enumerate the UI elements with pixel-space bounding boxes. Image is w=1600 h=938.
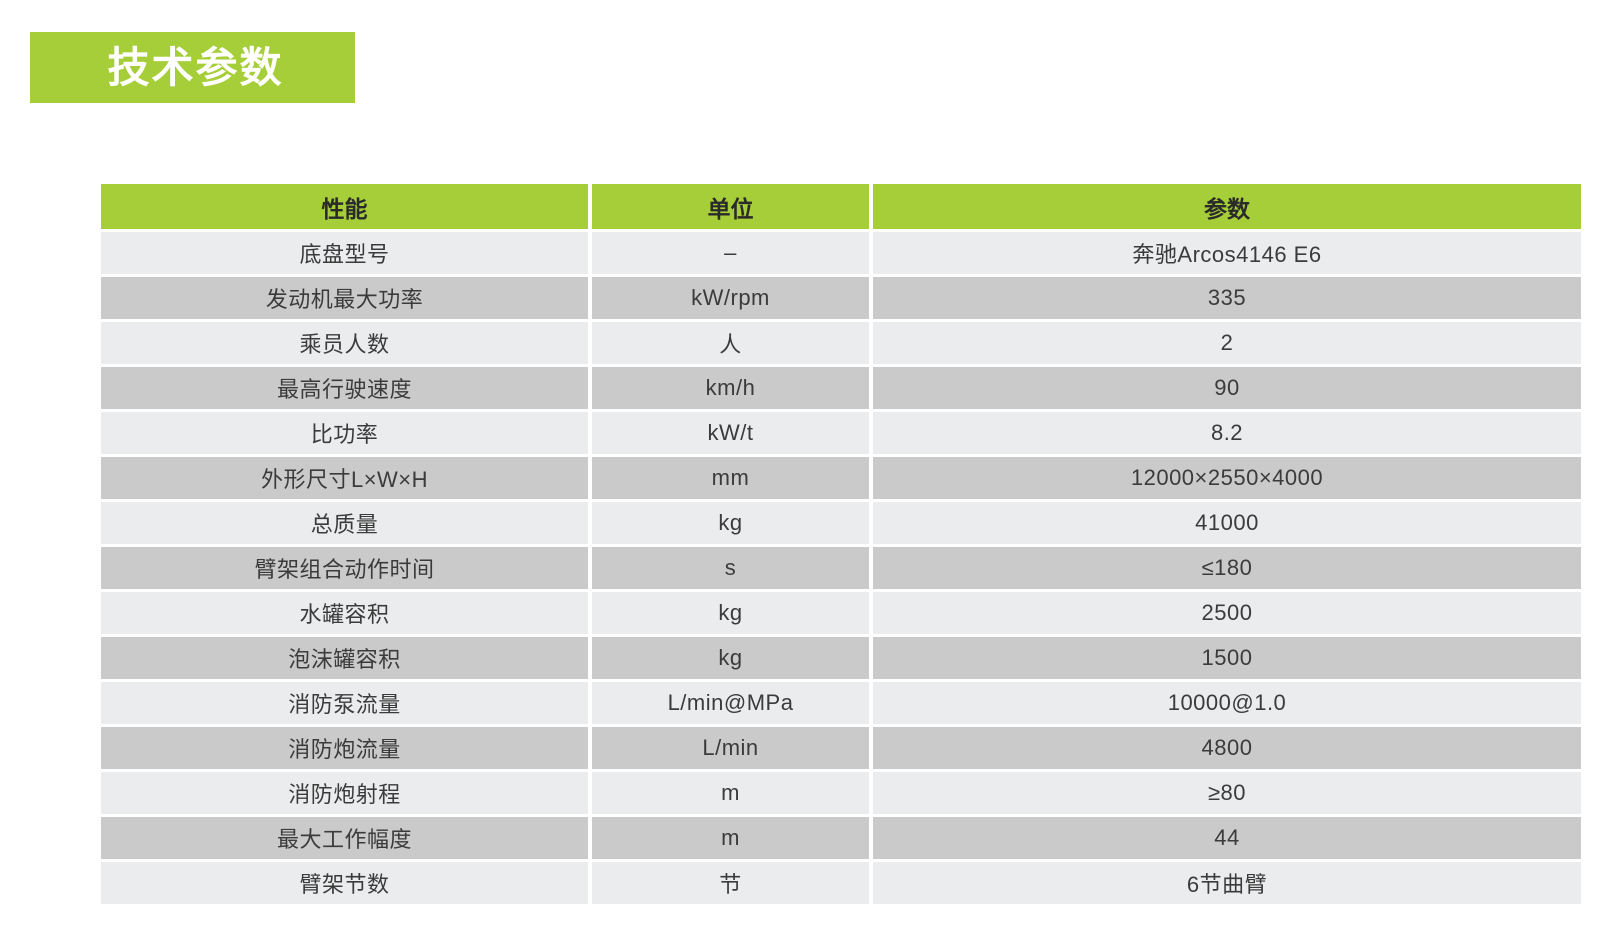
table-row: 最大工作幅度m44 <box>101 817 1581 859</box>
table-cell-unit: 节 <box>592 862 869 904</box>
table-cell-parameter: 12000×2550×4000 <box>873 457 1581 499</box>
table-row: 泡沫罐容积kg1500 <box>101 637 1581 679</box>
table-cell-performance: 臂架组合动作时间 <box>101 547 588 589</box>
page-title: 技术参数 <box>101 47 283 89</box>
table-cell-parameter: 8.2 <box>873 412 1581 454</box>
table-cell-unit: m <box>592 772 869 814</box>
table-row: 水罐容积kg2500 <box>101 592 1581 634</box>
column-header-parameter: 参数 <box>873 184 1581 229</box>
table-cell-parameter: 奔驰Arcos4146 E6 <box>873 232 1581 274</box>
table-cell-performance: 最高行驶速度 <box>101 367 588 409</box>
table-cell-unit: m <box>592 817 869 859</box>
table-cell-unit: – <box>592 232 869 274</box>
table-cell-performance: 乘员人数 <box>101 322 588 364</box>
table-row: 发动机最大功率kW/rpm335 <box>101 277 1581 319</box>
table-row: 臂架组合动作时间s≤180 <box>101 547 1581 589</box>
table-cell-unit: kg <box>592 502 869 544</box>
technical-specifications-table: 性能 单位 参数 底盘型号–奔驰Arcos4146 E6发动机最大功率kW/rp… <box>97 181 1585 907</box>
table-header: 性能 单位 参数 <box>101 184 1581 229</box>
table-cell-performance: 发动机最大功率 <box>101 277 588 319</box>
table-row: 比功率kW/t8.2 <box>101 412 1581 454</box>
table-cell-unit: L/min@MPa <box>592 682 869 724</box>
table-cell-parameter: 335 <box>873 277 1581 319</box>
table-cell-unit: 人 <box>592 322 869 364</box>
column-header-performance: 性能 <box>101 184 588 229</box>
table-cell-parameter: 90 <box>873 367 1581 409</box>
table-header-row: 性能 单位 参数 <box>101 184 1581 229</box>
table-cell-unit: kW/t <box>592 412 869 454</box>
table-cell-parameter: 1500 <box>873 637 1581 679</box>
table-row: 底盘型号–奔驰Arcos4146 E6 <box>101 232 1581 274</box>
table-row: 最高行驶速度km/h90 <box>101 367 1581 409</box>
table-cell-unit: kg <box>592 592 869 634</box>
table-cell-parameter: 44 <box>873 817 1581 859</box>
page-title-banner: 技术参数 <box>30 32 355 103</box>
table-cell-parameter: ≤180 <box>873 547 1581 589</box>
table-cell-parameter: ≥80 <box>873 772 1581 814</box>
table-cell-unit: s <box>592 547 869 589</box>
table-cell-performance: 消防炮射程 <box>101 772 588 814</box>
table-cell-performance: 臂架节数 <box>101 862 588 904</box>
table-row: 总质量kg41000 <box>101 502 1581 544</box>
table-cell-performance: 泡沫罐容积 <box>101 637 588 679</box>
table-body: 底盘型号–奔驰Arcos4146 E6发动机最大功率kW/rpm335乘员人数人… <box>101 232 1581 904</box>
table-cell-parameter: 6节曲臂 <box>873 862 1581 904</box>
table-cell-performance: 比功率 <box>101 412 588 454</box>
table-cell-unit: mm <box>592 457 869 499</box>
table-cell-performance: 水罐容积 <box>101 592 588 634</box>
table-row: 消防泵流量L/min@MPa10000@1.0 <box>101 682 1581 724</box>
table-cell-unit: L/min <box>592 727 869 769</box>
page-root: 技术参数 性能 单位 参数 底盘型号–奔驰Arcos4146 E6发动机最大功率… <box>0 0 1600 938</box>
table-row: 消防炮射程m≥80 <box>101 772 1581 814</box>
table-cell-parameter: 2 <box>873 322 1581 364</box>
table-cell-performance: 消防炮流量 <box>101 727 588 769</box>
table-cell-performance: 外形尺寸L×W×H <box>101 457 588 499</box>
table-cell-parameter: 10000@1.0 <box>873 682 1581 724</box>
table-cell-unit: km/h <box>592 367 869 409</box>
table-row: 乘员人数人2 <box>101 322 1581 364</box>
table-row: 外形尺寸L×W×Hmm12000×2550×4000 <box>101 457 1581 499</box>
column-header-unit: 单位 <box>592 184 869 229</box>
table-cell-parameter: 4800 <box>873 727 1581 769</box>
table-cell-performance: 最大工作幅度 <box>101 817 588 859</box>
table-cell-parameter: 2500 <box>873 592 1581 634</box>
table-cell-performance: 消防泵流量 <box>101 682 588 724</box>
table-cell-unit: kW/rpm <box>592 277 869 319</box>
table-row: 消防炮流量L/min4800 <box>101 727 1581 769</box>
table-cell-parameter: 41000 <box>873 502 1581 544</box>
table-cell-unit: kg <box>592 637 869 679</box>
table-cell-performance: 总质量 <box>101 502 588 544</box>
table-cell-performance: 底盘型号 <box>101 232 588 274</box>
table-row: 臂架节数节6节曲臂 <box>101 862 1581 904</box>
